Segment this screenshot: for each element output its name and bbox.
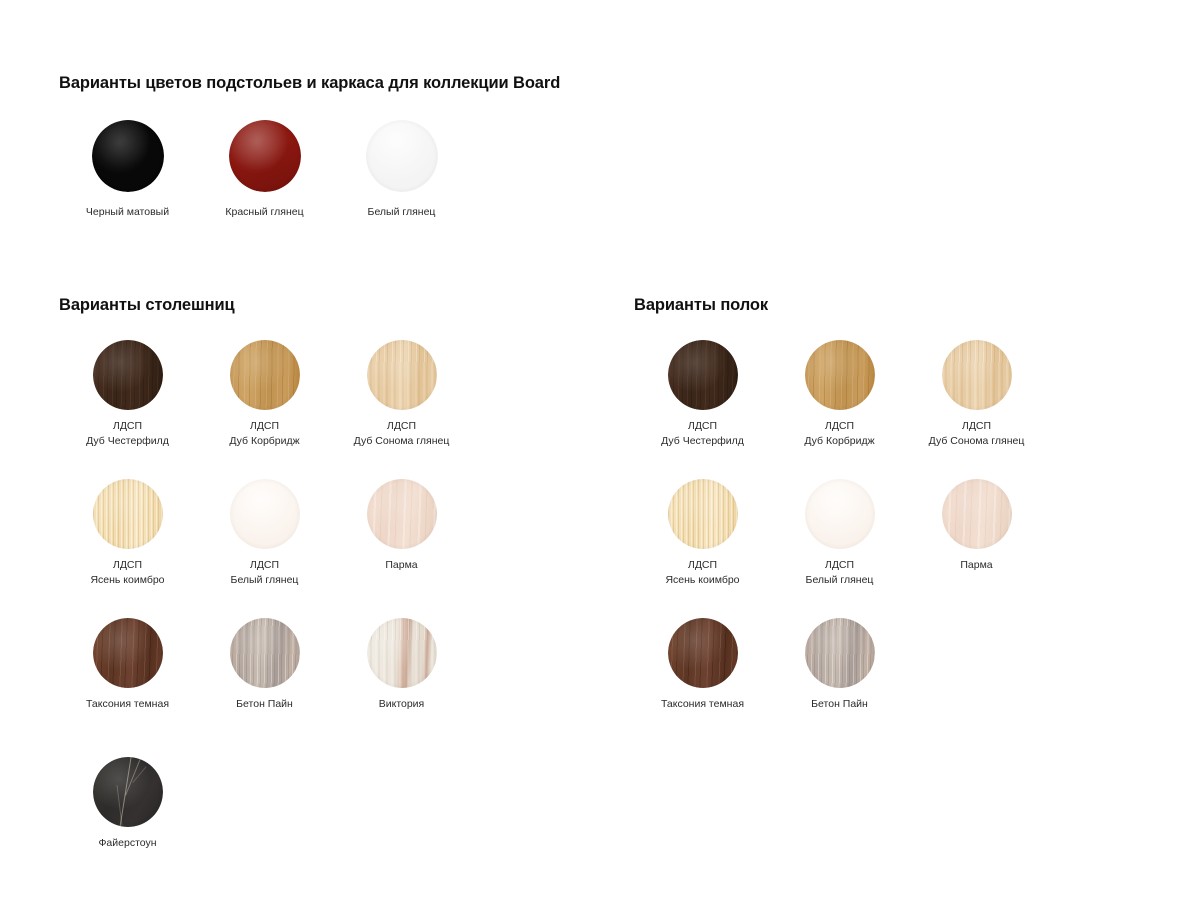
wood-grain-overlay xyxy=(805,479,875,549)
color-swatch[interactable] xyxy=(668,479,738,549)
swatch-label: ЛДСПБелый глянец xyxy=(231,558,299,588)
swatch-label: Виктория xyxy=(379,697,425,712)
swatch-texture xyxy=(92,120,164,192)
wood-grain-overlay xyxy=(668,340,738,410)
swatch-label-primary: Таксония темная xyxy=(661,697,744,712)
swatch-label-primary: ЛДСП xyxy=(804,419,874,434)
wood-grain-overlay xyxy=(93,757,163,827)
swatch-label-primary: ЛДСП xyxy=(661,419,744,434)
color-swatch[interactable] xyxy=(229,120,301,192)
swatch-texture xyxy=(805,340,875,410)
tabletop-color-grid: ЛДСПДуб ЧестерфилдЛДСПДуб КорбриджЛДСПДу… xyxy=(59,340,470,877)
tabletops-section-title: Варианты столешниц xyxy=(59,296,235,315)
swatch-texture xyxy=(230,479,300,549)
color-swatch[interactable] xyxy=(367,479,437,549)
shelf-color-grid: ЛДСПДуб ЧестерфилдЛДСПДуб КорбриджЛДСПДу… xyxy=(634,340,1045,738)
swatch-cell[interactable]: ЛДСПДуб Корбридж xyxy=(196,340,333,479)
swatch-label: Парма xyxy=(960,558,992,573)
swatch-label: ЛДСПДуб Честерфилд xyxy=(661,419,744,449)
shelves-section-title: Варианты полок xyxy=(634,296,768,315)
wood-grain-overlay xyxy=(367,618,437,688)
color-swatch[interactable] xyxy=(805,479,875,549)
swatch-label: ЛДСПДуб Сонома глянец xyxy=(354,419,450,449)
swatch-texture xyxy=(366,120,438,192)
frame-color-grid: Черный матовыйКрасный глянецБелый глянец xyxy=(59,120,470,220)
swatch-label: ЛДСПЯсень коимбро xyxy=(90,558,164,588)
swatch-label-primary: ЛДСП xyxy=(86,419,169,434)
color-swatch[interactable] xyxy=(805,340,875,410)
swatch-label: ЛДСПБелый глянец xyxy=(806,558,874,588)
wood-grain-overlay xyxy=(93,479,163,549)
color-swatch[interactable] xyxy=(92,120,164,192)
color-swatch[interactable] xyxy=(668,618,738,688)
swatch-texture xyxy=(230,340,300,410)
wood-grain-overlay xyxy=(230,479,300,549)
swatch-texture xyxy=(367,479,437,549)
color-swatch[interactable] xyxy=(668,340,738,410)
swatch-label-primary: ЛДСП xyxy=(354,419,450,434)
swatch-label-secondary: Белый глянец xyxy=(231,573,299,588)
color-options-page: Варианты цветов подстольев и каркаса для… xyxy=(0,0,1200,900)
swatch-label: Парма xyxy=(385,558,417,573)
color-swatch[interactable] xyxy=(93,757,163,827)
swatch-label: Бетон Пайн xyxy=(236,697,293,712)
swatch-label-secondary: Дуб Сонома глянец xyxy=(929,434,1025,449)
swatch-cell[interactable]: Парма xyxy=(333,479,470,618)
swatch-cell[interactable]: Белый глянец xyxy=(333,120,470,220)
swatch-label-secondary: Белый глянец xyxy=(806,573,874,588)
color-swatch[interactable] xyxy=(366,120,438,192)
swatch-texture xyxy=(805,618,875,688)
wood-grain-overlay xyxy=(230,618,300,688)
swatch-label-secondary: Дуб Сонома глянец xyxy=(354,434,450,449)
swatch-label: Белый глянец xyxy=(368,206,436,218)
swatch-cell[interactable]: ЛДСПДуб Честерфилд xyxy=(634,340,771,479)
swatch-label-primary: Бетон Пайн xyxy=(236,697,293,712)
swatch-label-secondary: Дуб Честерфилд xyxy=(86,434,169,449)
swatch-texture xyxy=(229,120,301,192)
swatch-texture xyxy=(805,479,875,549)
color-swatch[interactable] xyxy=(230,479,300,549)
swatch-texture xyxy=(93,618,163,688)
wood-grain-overlay xyxy=(92,120,164,192)
swatch-texture xyxy=(367,340,437,410)
color-swatch[interactable] xyxy=(805,618,875,688)
swatch-label: Красный глянец xyxy=(225,206,303,218)
swatch-texture xyxy=(93,757,163,827)
swatch-label-primary: ЛДСП xyxy=(665,558,739,573)
swatch-texture xyxy=(93,340,163,410)
swatch-label-primary: Виктория xyxy=(379,697,425,712)
wood-grain-overlay xyxy=(367,340,437,410)
swatch-label: ЛДСПДуб Честерфилд xyxy=(86,419,169,449)
swatch-label: Таксония темная xyxy=(86,697,169,712)
swatch-cell[interactable]: ЛДСПБелый глянец xyxy=(196,479,333,618)
wood-grain-overlay xyxy=(229,120,301,192)
swatch-cell[interactable]: Таксония темная xyxy=(634,618,771,738)
swatch-label-secondary: Ясень коимбро xyxy=(665,573,739,588)
wood-grain-overlay xyxy=(93,618,163,688)
swatch-texture xyxy=(367,618,437,688)
swatch-label-secondary: Дуб Корбридж xyxy=(804,434,874,449)
swatch-label-primary: Парма xyxy=(385,558,417,573)
swatch-label-primary: Файерстоун xyxy=(98,836,156,851)
swatch-cell[interactable]: ЛДСПБелый глянец xyxy=(771,479,908,618)
wood-grain-overlay xyxy=(942,340,1012,410)
swatch-label-primary: ЛДСП xyxy=(929,419,1025,434)
color-swatch[interactable] xyxy=(93,479,163,549)
swatch-cell[interactable]: ЛДСПЯсень коимбро xyxy=(634,479,771,618)
swatch-cell[interactable]: Бетон Пайн xyxy=(196,618,333,757)
swatch-texture xyxy=(668,479,738,549)
wood-grain-overlay xyxy=(366,120,438,192)
swatch-cell[interactable]: Черный матовый xyxy=(59,120,196,220)
swatch-texture xyxy=(93,479,163,549)
wood-grain-overlay xyxy=(668,618,738,688)
swatch-label: Бетон Пайн xyxy=(811,697,868,712)
swatch-label-secondary: Дуб Честерфилд xyxy=(661,434,744,449)
swatch-label-primary: Бетон Пайн xyxy=(811,697,868,712)
color-swatch[interactable] xyxy=(230,340,300,410)
swatch-label-primary: ЛДСП xyxy=(90,558,164,573)
swatch-label-primary: ЛДСП xyxy=(231,558,299,573)
wood-grain-overlay xyxy=(805,618,875,688)
color-swatch[interactable] xyxy=(942,340,1012,410)
color-swatch[interactable] xyxy=(93,340,163,410)
swatch-cell[interactable]: Бетон Пайн xyxy=(771,618,908,738)
color-swatch[interactable] xyxy=(367,618,437,688)
swatch-label: Черный матовый xyxy=(86,206,169,218)
swatch-label: ЛДСПДуб Корбридж xyxy=(229,419,299,449)
swatch-texture xyxy=(942,479,1012,549)
swatch-label: ЛДСПДуб Корбридж xyxy=(804,419,874,449)
swatch-label-primary: ЛДСП xyxy=(806,558,874,573)
color-swatch[interactable] xyxy=(93,618,163,688)
swatch-label: Таксония темная xyxy=(661,697,744,712)
swatch-cell[interactable]: ЛДСПДуб Корбридж xyxy=(771,340,908,479)
color-swatch[interactable] xyxy=(942,479,1012,549)
page-title: Варианты цветов подстольев и каркаса для… xyxy=(59,74,560,93)
swatch-cell[interactable]: Красный глянец xyxy=(196,120,333,220)
swatch-label: ЛДСПЯсень коимбро xyxy=(665,558,739,588)
swatch-cell[interactable]: Таксония темная xyxy=(59,618,196,757)
swatch-cell[interactable]: ЛДСПДуб Честерфилд xyxy=(59,340,196,479)
swatch-texture xyxy=(668,340,738,410)
wood-grain-overlay xyxy=(942,479,1012,549)
swatch-label-secondary: Дуб Корбридж xyxy=(229,434,299,449)
swatch-texture xyxy=(668,618,738,688)
swatch-texture xyxy=(230,618,300,688)
wood-grain-overlay xyxy=(668,479,738,549)
swatch-label: ЛДСПДуб Сонома глянец xyxy=(929,419,1025,449)
swatch-label-primary: ЛДСП xyxy=(229,419,299,434)
wood-grain-overlay xyxy=(93,340,163,410)
swatch-cell[interactable]: ЛДСПДуб Сонома глянец xyxy=(333,340,470,479)
swatch-label-secondary: Ясень коимбро xyxy=(90,573,164,588)
color-swatch[interactable] xyxy=(230,618,300,688)
swatch-label-primary: Парма xyxy=(960,558,992,573)
swatch-cell[interactable]: Виктория xyxy=(333,618,470,757)
wood-grain-overlay xyxy=(367,479,437,549)
wood-grain-overlay xyxy=(230,340,300,410)
swatch-cell[interactable]: ЛДСПДуб Сонома глянец xyxy=(908,340,1045,479)
swatch-label-primary: Таксония темная xyxy=(86,697,169,712)
color-swatch[interactable] xyxy=(367,340,437,410)
swatch-label: Файерстоун xyxy=(98,836,156,851)
swatch-cell[interactable]: Парма xyxy=(908,479,1045,618)
swatch-texture xyxy=(942,340,1012,410)
wood-grain-overlay xyxy=(805,340,875,410)
swatch-cell[interactable]: Файерстоун xyxy=(59,757,196,877)
swatch-cell[interactable]: ЛДСПЯсень коимбро xyxy=(59,479,196,618)
